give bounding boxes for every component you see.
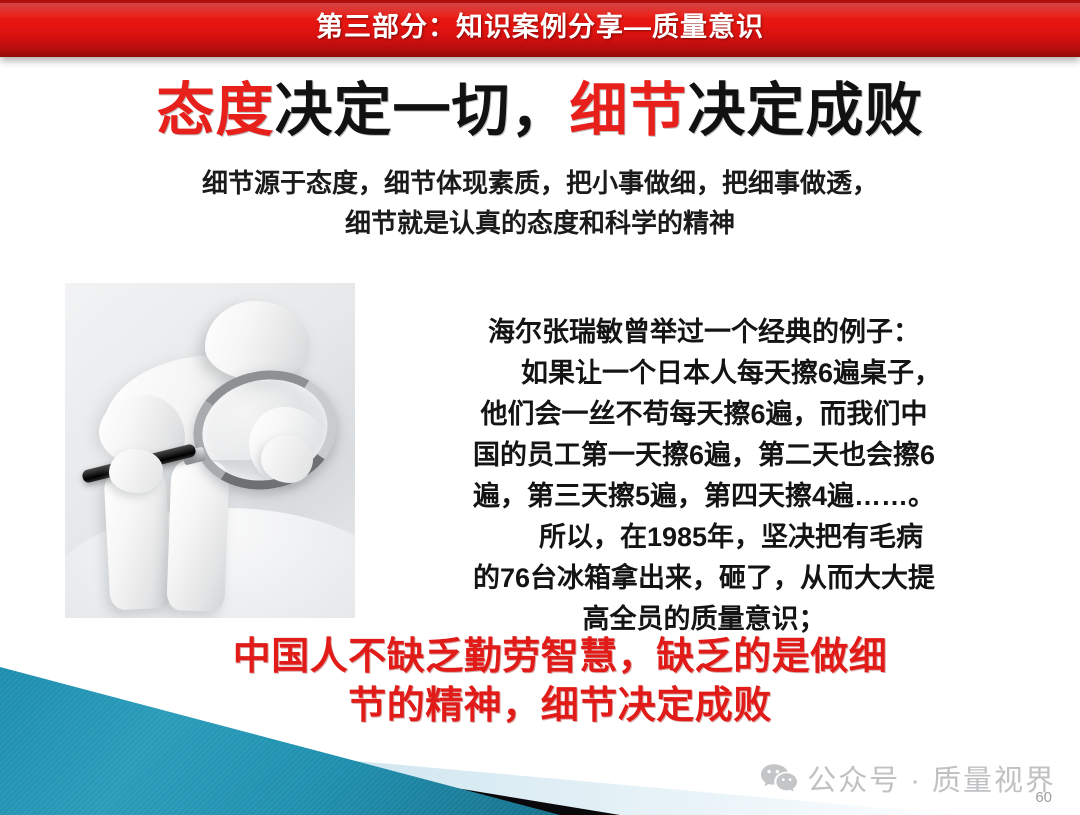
body-line: 的76台冰箱拿出来，砸了，从而大大提 <box>428 558 980 599</box>
figure-leg-right <box>166 460 229 612</box>
watermark: 公众号 · 质量视界 <box>760 757 1056 799</box>
slide-canvas: 第三部分：知识案例分享—质量意识 态度决定一切，细节决定成败 细节源于态度，细节… <box>0 0 1080 815</box>
page-title: 态度决定一切，细节决定成败 <box>0 80 1080 142</box>
section-header-bar: 第三部分：知识案例分享—质量意识 <box>0 0 1080 57</box>
conclusion-line-2: 节的精神，细节决定成败 <box>160 682 960 731</box>
case-study-paragraph: 海尔张瑞敏曾举过一个经典的例子： 如果让一个日本人每天擦6遍桌子， 他们会一丝不… <box>428 312 980 640</box>
page-number: 60 <box>1035 789 1052 806</box>
body-line: 他们会一丝不苟每天擦6遍，而我们中 <box>428 394 980 435</box>
conclusion-statement: 中国人不缺乏勤劳智慧，缺乏的是做细 节的精神，细节决定成败 <box>160 633 960 731</box>
title-highlight-attitude: 态度 <box>156 78 274 143</box>
figure-hand-left <box>109 449 163 493</box>
body-line: 如果让一个日本人每天擦6遍桌子， <box>428 353 980 394</box>
body-line: 海尔张瑞敏曾举过一个经典的例子： <box>428 312 980 353</box>
title-text-part1: 决定一切， <box>274 78 569 143</box>
conclusion-line-1: 中国人不缺乏勤劳智慧，缺乏的是做细 <box>160 633 960 682</box>
subtitle-line-1: 细节源于态度，细节体现素质，把小事做细，把细事做透， <box>140 163 940 203</box>
page-subtitle: 细节源于态度，细节体现素质，把小事做细，把细事做透， 细节就是认真的态度和科学的… <box>140 163 940 243</box>
title-text-part2: 决定成败 <box>688 78 924 143</box>
body-line: 遍，第三天擦5遍，第四天擦4遍……。 <box>428 476 980 517</box>
magnifier-figure-image <box>65 283 355 618</box>
title-highlight-detail: 细节 <box>570 78 688 143</box>
subtitle-line-2: 细节就是认真的态度和科学的精神 <box>140 203 940 243</box>
wechat-icon <box>760 763 798 793</box>
figure-hand-right <box>261 435 313 483</box>
watermark-text: 公众号 · 质量视界 <box>807 757 1056 799</box>
section-header-title: 第三部分：知识案例分享—质量意识 <box>0 0 1080 57</box>
body-line: 国的员工第一天擦6遍，第二天也会擦6 <box>428 435 980 476</box>
body-line: 所以，在1985年，坚决把有毛病 <box>428 517 980 558</box>
figure-head <box>205 301 310 381</box>
